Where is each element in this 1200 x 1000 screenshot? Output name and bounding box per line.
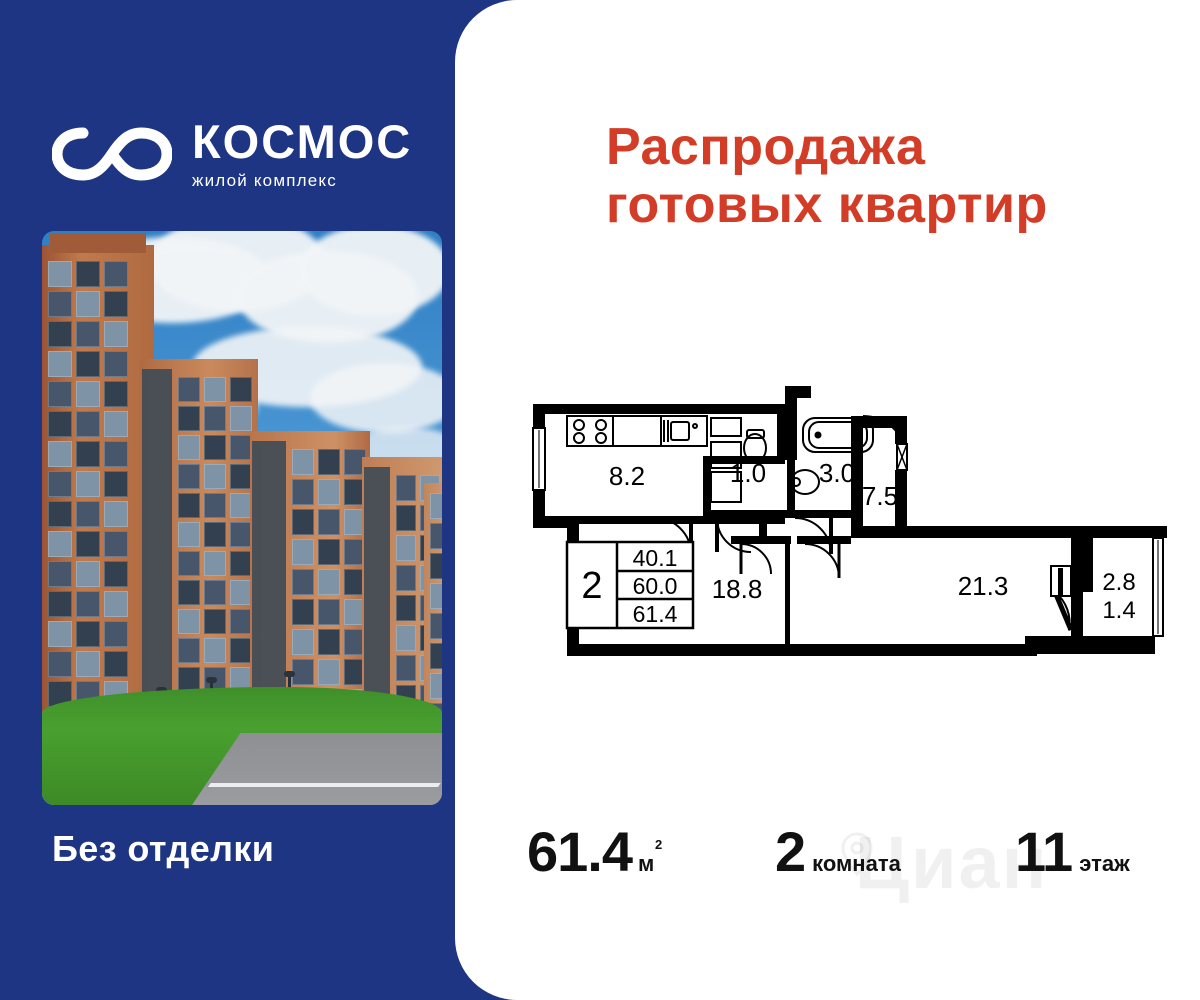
stat-area-value: 61.4: [527, 824, 632, 880]
room-area-hall: 7.5: [862, 481, 898, 511]
road-marking: [208, 783, 441, 787]
stamp-rooms: 2: [581, 565, 602, 607]
room-area-bathroom: 3.0: [819, 458, 855, 488]
finish-caption: Без отделки: [52, 828, 412, 870]
stamp-total-area: 61.4: [633, 601, 678, 627]
brand-name: КОСМОС: [192, 118, 412, 165]
room-area-living-room: 21.3: [958, 571, 1009, 601]
brand-sidebar: КОСМОС жилой комплекс: [0, 0, 455, 1000]
headline-line-2: готовых квартир: [606, 176, 1126, 234]
balcony-area: 2.8: [1102, 569, 1135, 596]
room-area-kitchen: 8.2: [609, 461, 645, 491]
street-lamp-head: [206, 677, 217, 683]
stat-area: 61.4 м2: [527, 824, 654, 880]
listing-card: КОСМОС жилой комплекс: [0, 0, 1200, 1000]
balcony-reduced-area: 1.4: [1102, 597, 1135, 624]
stat-floor: 11 этаж: [1015, 824, 1130, 880]
brand-logo: КОСМОС жилой комплекс: [52, 118, 412, 189]
stat-floor-value: 11: [1015, 824, 1072, 880]
room-area-wc: 1.0: [730, 458, 766, 488]
infinity-icon: [52, 123, 172, 185]
floor-plan-drawing: 2 40.1 60.0 61.4 8.2 1.0 3.0 7.5 18.8 21…: [455, 330, 1200, 710]
building-photo: [42, 231, 442, 805]
page-title: Распродажа готовых квартир: [606, 118, 1126, 234]
stat-floor-label: этаж: [1079, 851, 1129, 877]
floor-plan: 2 40.1 60.0 61.4 8.2 1.0 3.0 7.5 18.8 21…: [455, 330, 1200, 710]
stat-rooms: 2 комната: [775, 824, 901, 880]
headline-line-1: Распродажа: [606, 118, 1126, 176]
building-tower-cap: [50, 233, 146, 253]
room-area-bedroom: 18.8: [712, 574, 763, 604]
stamp-area-without-balcony: 60.0: [633, 573, 678, 599]
stat-rooms-value: 2: [775, 824, 805, 880]
window-grid: [48, 261, 128, 767]
summary-stats: Циан 61.4 м2 2 комната 11 этаж: [455, 806, 1200, 906]
street-lamp-head: [284, 671, 295, 677]
brand-subtitle: жилой комплекс: [192, 172, 412, 189]
stamp-living-area: 40.1: [633, 545, 678, 571]
stat-rooms-label: комната: [812, 851, 901, 877]
stat-area-unit: м2: [638, 851, 654, 877]
